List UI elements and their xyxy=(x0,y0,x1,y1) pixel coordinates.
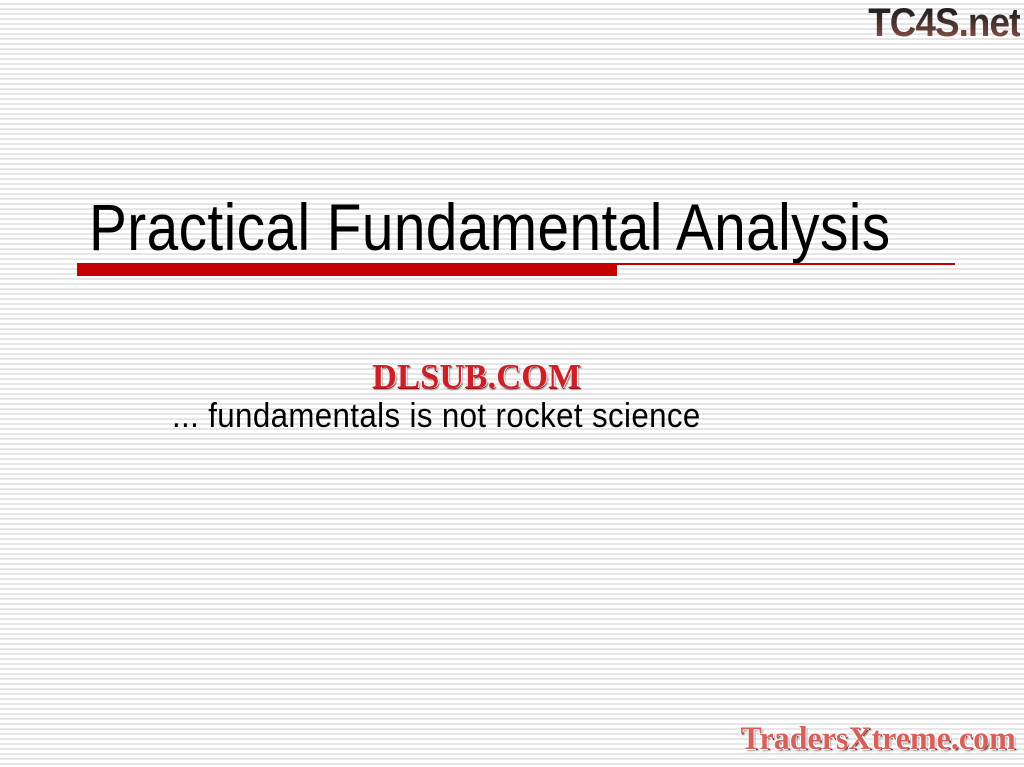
title-rule-thick-bar xyxy=(77,264,617,276)
title-underline-rule xyxy=(77,263,955,277)
page-title: Practical Fundamental Analysis xyxy=(89,190,835,264)
tradersxtreme-watermark: TradersXtreme.com xyxy=(741,721,1016,757)
dlsub-watermark: DLSUB.COM xyxy=(372,358,581,396)
title-block: Practical Fundamental Analysis xyxy=(77,190,957,264)
page-subtitle: ... fundamentals is not rocket science xyxy=(172,396,701,436)
tc4s-brand-logo: TC4S.net xyxy=(868,2,1020,44)
presentation-slide: TC4S.net Practical Fundamental Analysis … xyxy=(0,0,1024,767)
